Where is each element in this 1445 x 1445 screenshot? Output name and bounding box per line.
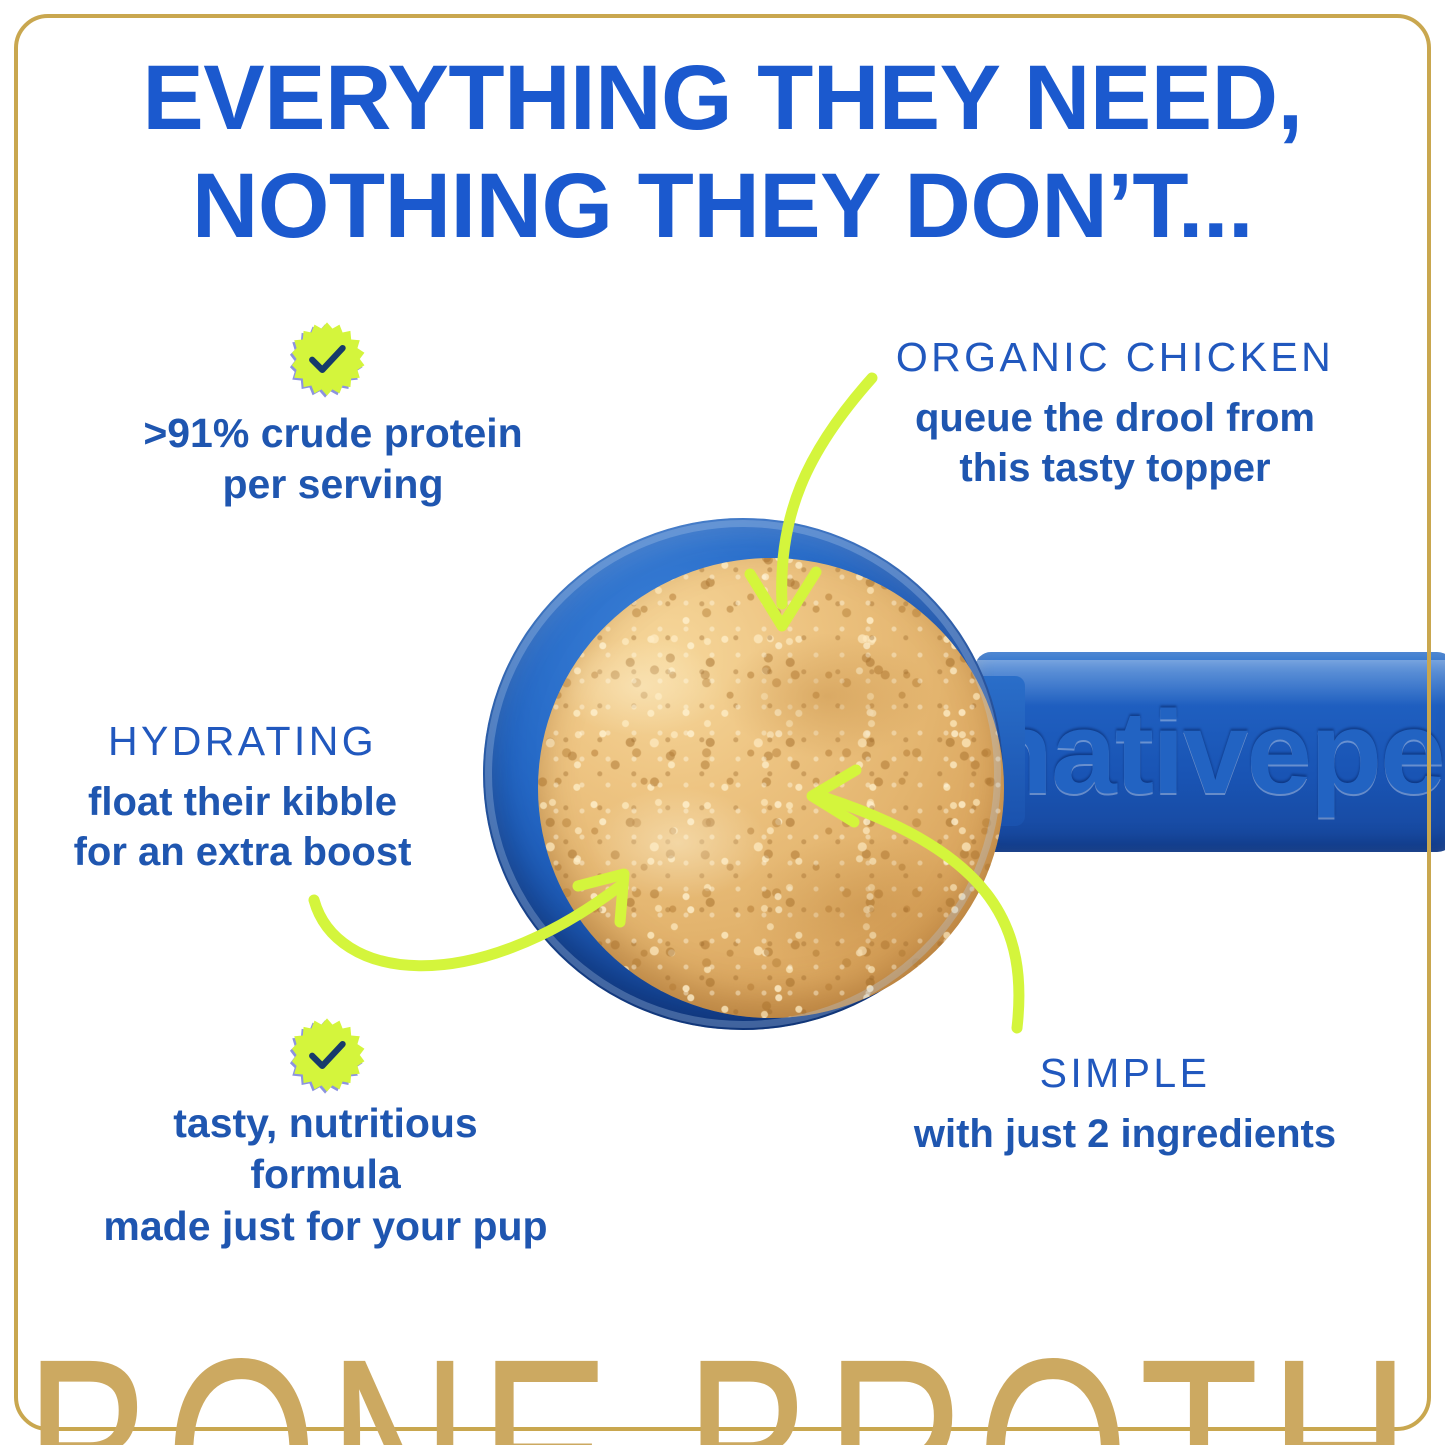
check-badge-icon <box>288 1016 366 1094</box>
callout-organic-chicken-heading: ORGANIC CHICKEN <box>880 334 1350 381</box>
callout-tasty-body: tasty, nutritious formula made just for … <box>98 1098 553 1252</box>
headline-line-2: NOTHING THEY DON’T... <box>0 160 1445 252</box>
callout-organic-chicken: ORGANIC CHICKEN queue the drool from thi… <box>880 334 1350 493</box>
callout-organic-chicken-body: queue the drool from this tasty topper <box>880 393 1350 493</box>
callout-tasty: tasty, nutritious formula made just for … <box>98 1098 553 1252</box>
scoop-brand-emboss: nativepe <box>981 694 1444 812</box>
callout-hydrating-heading: HYDRATING <box>55 718 430 765</box>
callout-hydrating-body-line-2: for an extra boost <box>55 827 430 877</box>
callout-hydrating-body-line-1: float their kibble <box>55 777 430 827</box>
callout-protein: >91% crude protein per serving <box>98 408 568 511</box>
callout-organic-chicken-body-line-2: this tasty topper <box>880 443 1350 493</box>
callout-hydrating: HYDRATING float their kibble for an extr… <box>55 718 430 877</box>
callout-tasty-body-line-1: tasty, nutritious formula <box>98 1098 553 1201</box>
callout-simple: SIMPLE with just 2 ingredients <box>905 1050 1345 1159</box>
page-title: EVERYTHING THEY NEED, NOTHING THEY DON’T… <box>0 52 1445 252</box>
callout-organic-chicken-body-line-1: queue the drool from <box>880 393 1350 443</box>
check-badge-icon <box>288 320 366 398</box>
powder-clump-shading <box>538 558 1004 1018</box>
product-scoop-image: nativepe <box>455 500 1445 1045</box>
headline-line-1: EVERYTHING THEY NEED, <box>142 47 1302 149</box>
callout-protein-body: >91% crude protein per serving <box>98 408 568 511</box>
callout-simple-heading: SIMPLE <box>905 1050 1345 1097</box>
callout-simple-body-line-1: with just 2 ingredients <box>905 1109 1345 1159</box>
scoop-handle: nativepe <box>975 652 1445 852</box>
bone-broth-powder <box>538 558 1004 1018</box>
callout-protein-body-line-1: >91% crude protein <box>98 408 568 459</box>
callout-simple-body: with just 2 ingredients <box>905 1109 1345 1159</box>
scoop-bowl <box>483 518 1003 1030</box>
callout-hydrating-body: float their kibble for an extra boost <box>55 777 430 877</box>
callout-tasty-body-line-2: made just for your pup <box>98 1201 553 1252</box>
callout-protein-body-line-2: per serving <box>98 459 568 510</box>
infographic-canvas: EVERYTHING THEY NEED, NOTHING THEY DON’T… <box>0 0 1445 1445</box>
product-wordmark: BONE BROTH <box>0 1318 1445 1445</box>
